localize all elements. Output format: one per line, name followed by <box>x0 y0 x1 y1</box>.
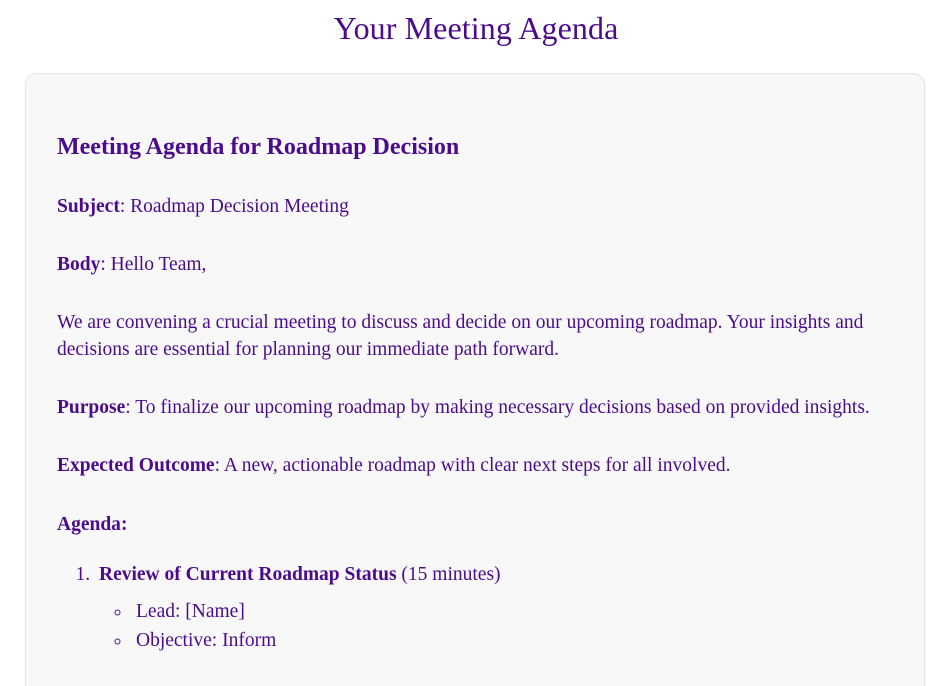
field-body-value: Hello Team, <box>111 254 207 275</box>
agenda-item-duration: (15 minutes) <box>397 564 501 585</box>
field-purpose-label: Purpose <box>57 397 125 418</box>
agenda-item-details: Lead: [Name] Objective: Inform <box>99 597 892 656</box>
agenda-section-label: Agenda: <box>57 511 892 539</box>
field-expected-outcome-separator: : <box>215 455 224 476</box>
page-root: Your Meeting Agenda Meeting Agenda for R… <box>0 0 952 686</box>
field-body-label: Body <box>57 254 100 275</box>
field-expected-outcome-value: A new, actionable roadmap with clear nex… <box>224 455 731 476</box>
agenda-section-label-separator: : <box>121 514 128 535</box>
intro-paragraph: We are convening a crucial meeting to di… <box>57 309 892 364</box>
field-body-separator: : <box>100 254 110 275</box>
field-expected-outcome: Expected Outcome: A new, actionable road… <box>57 452 892 480</box>
agenda-list-item: Review of Current Roadmap Status (15 min… <box>95 561 892 656</box>
agenda-section-label-text: Agenda <box>57 514 121 535</box>
field-expected-outcome-label: Expected Outcome <box>57 455 215 476</box>
agenda-card: Meeting Agenda for Roadmap Decision Subj… <box>25 73 925 686</box>
field-subject-value: Roadmap Decision Meeting <box>130 196 349 217</box>
document-heading: Meeting Agenda for Roadmap Decision <box>57 132 892 163</box>
field-purpose: Purpose: To finalize our upcoming roadma… <box>57 394 892 422</box>
agenda-list: Review of Current Roadmap Status (15 min… <box>57 561 892 656</box>
agenda-item-title: Review of Current Roadmap Status <box>99 564 397 585</box>
field-subject-separator: : <box>120 196 130 217</box>
field-purpose-value: To finalize our upcoming roadmap by maki… <box>135 397 870 418</box>
field-body: Body: Hello Team, <box>57 251 892 279</box>
field-subject: Subject: Roadmap Decision Meeting <box>57 193 892 221</box>
page-title: Your Meeting Agenda <box>0 0 952 48</box>
field-purpose-separator: : <box>125 397 135 418</box>
field-subject-label: Subject <box>57 196 120 217</box>
agenda-item-detail: Lead: [Name] <box>132 597 892 627</box>
agenda-item-detail: Objective: Inform <box>132 626 892 656</box>
